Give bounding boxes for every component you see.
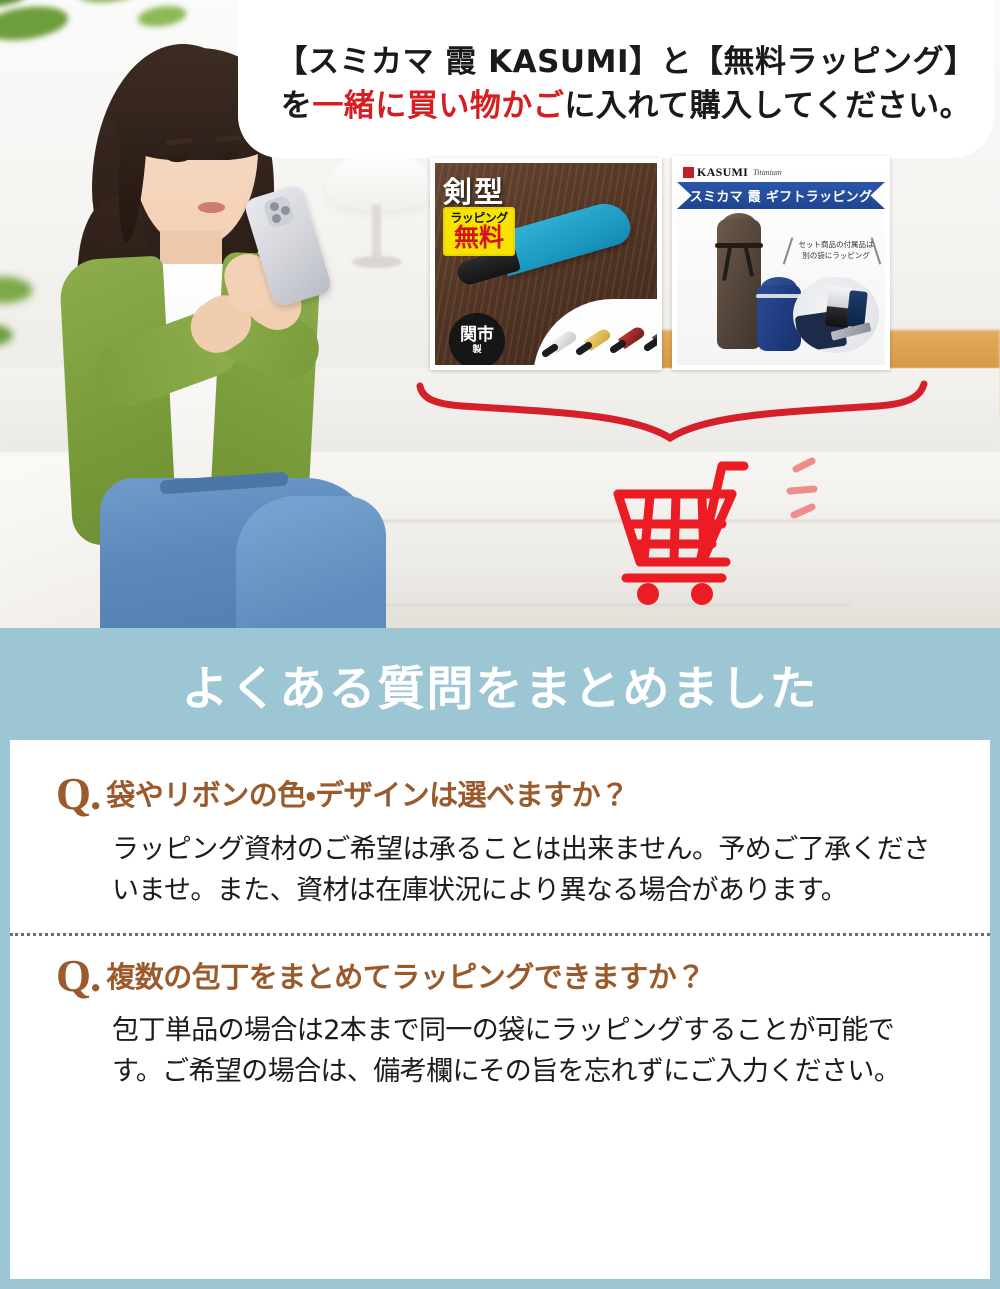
lamp-stem	[372, 205, 381, 260]
knife-variant-gold	[575, 333, 609, 347]
kasumi-brand-sub: Titanium	[753, 168, 781, 177]
accessory-inset-photo	[793, 277, 879, 353]
faq-header: よくある質問をまとめました	[10, 628, 990, 740]
faq-question-1: 袋やリボンの色・デザインは選べますか？	[106, 774, 628, 813]
jeans-knee	[236, 496, 386, 628]
product-card-knife[interactable]: 剣型 ラッピング 無料 関市 製	[430, 158, 662, 370]
faq-panel: Q. 袋やリボンの色・デザインは選べますか？ ラッピング資材のご希望は承ることは…	[10, 740, 990, 1279]
wrapping-note: セット商品の付属品は 別の袋にラッピング	[787, 239, 885, 262]
faq-section: よくある質問をまとめました Q. 袋やリボンの色・デザインは選べますか？ ラッピ…	[0, 628, 1000, 1289]
hero-banner: 【スミカマ 霞 KASUMI】と【無料ラッピング】 を一緒に買い物かごに入れて購…	[0, 0, 1000, 628]
knife-variant-silver	[541, 335, 575, 349]
product-card-wrapping[interactable]: KASUMI Titanium スミカマ 霞 ギフトラッピング	[672, 156, 890, 370]
faq-answer-1: ラッピング資材のご希望は承ることは出来ません。予めご了承くださいませ。また、資材…	[56, 815, 944, 911]
camera-lens-1	[270, 202, 279, 211]
headline-line-2: を一緒に買い物かごに入れて購入してください。	[258, 84, 994, 128]
blue-bag-tie	[756, 294, 802, 298]
faq-question-2: 複数の包丁をまとめてラッピングできますか？	[106, 956, 705, 995]
headline-post: に入れて購入してください。	[564, 88, 971, 124]
headline-pre: を	[281, 88, 313, 124]
cart-motion-lines-icon	[782, 455, 832, 525]
faq-answer-2: 包丁単品の場合は2本まで同一の袋にラッピングすることが可能です。ご希望の場合は、…	[56, 996, 944, 1092]
gift-wrapping-ribbon-banner: スミカマ 霞 ギフトラッピング	[677, 182, 885, 209]
kasumi-brand-name: KASUMI	[697, 165, 748, 180]
faq-title: よくある質問をまとめました	[182, 650, 819, 719]
badge-main-text: 無料	[447, 225, 511, 250]
kasumi-brand-logo: KASUMI Titanium	[683, 165, 782, 180]
seal-bottom-text: 製	[472, 346, 481, 355]
knife-type-label: 剣型	[443, 169, 505, 211]
faq-item-2: Q. 複数の包丁をまとめてラッピングできますか？ 包丁単品の場合は2本まで同一の…	[10, 956, 990, 1093]
knife-variant-purple	[643, 329, 657, 343]
shopping-cart-icon[interactable]	[604, 446, 794, 606]
wrapping-photo: KASUMI Titanium スミカマ 霞 ギフトラッピング	[677, 161, 885, 365]
question-mark-icon: Q.	[56, 956, 100, 997]
faq-question-row-2: Q. 複数の包丁をまとめてラッピングできますか？	[56, 956, 944, 997]
faq-divider	[10, 933, 990, 936]
headline-accent: 一緒に買い物かご	[312, 88, 564, 124]
promo-page: 【スミカマ 霞 KASUMI】と【無料ラッピング】 を一緒に買い物かごに入れて購…	[0, 0, 1000, 1289]
free-wrapping-badge: ラッピング 無料	[443, 207, 515, 256]
ribbon-label: スミカマ 霞 ギフトラッピング	[690, 186, 873, 205]
knife-variant-red	[609, 331, 643, 345]
faq-item-1: Q. 袋やリボンの色・デザインは選べますか？ ラッピング資材のご希望は承ることは…	[10, 774, 990, 911]
seki-city-seal-icon: 関市 製	[449, 313, 505, 365]
knife-photo: 剣型 ラッピング 無料 関市 製	[435, 163, 657, 365]
red-brace-arrow-icon	[412, 372, 932, 444]
brown-bag-tie	[715, 243, 763, 248]
kasumi-logo-mark-icon	[683, 167, 694, 178]
faq-question-row-1: Q. 袋やリボンの色・デザインは選べますか？	[56, 774, 944, 815]
lips	[198, 202, 225, 213]
question-mark-icon: Q.	[56, 774, 100, 815]
seal-top-text: 関市	[460, 327, 494, 344]
camera-lens-2	[281, 206, 290, 215]
camera-lens-3	[272, 214, 281, 223]
headline-line-1: 【スミカマ 霞 KASUMI】と【無料ラッピング】	[258, 40, 994, 84]
accessory-package-2	[846, 290, 868, 328]
page-title: 【スミカマ 霞 KASUMI】と【無料ラッピング】 を一緒に買い物かごに入れて購…	[258, 40, 994, 128]
brown-gift-bag	[717, 219, 761, 349]
